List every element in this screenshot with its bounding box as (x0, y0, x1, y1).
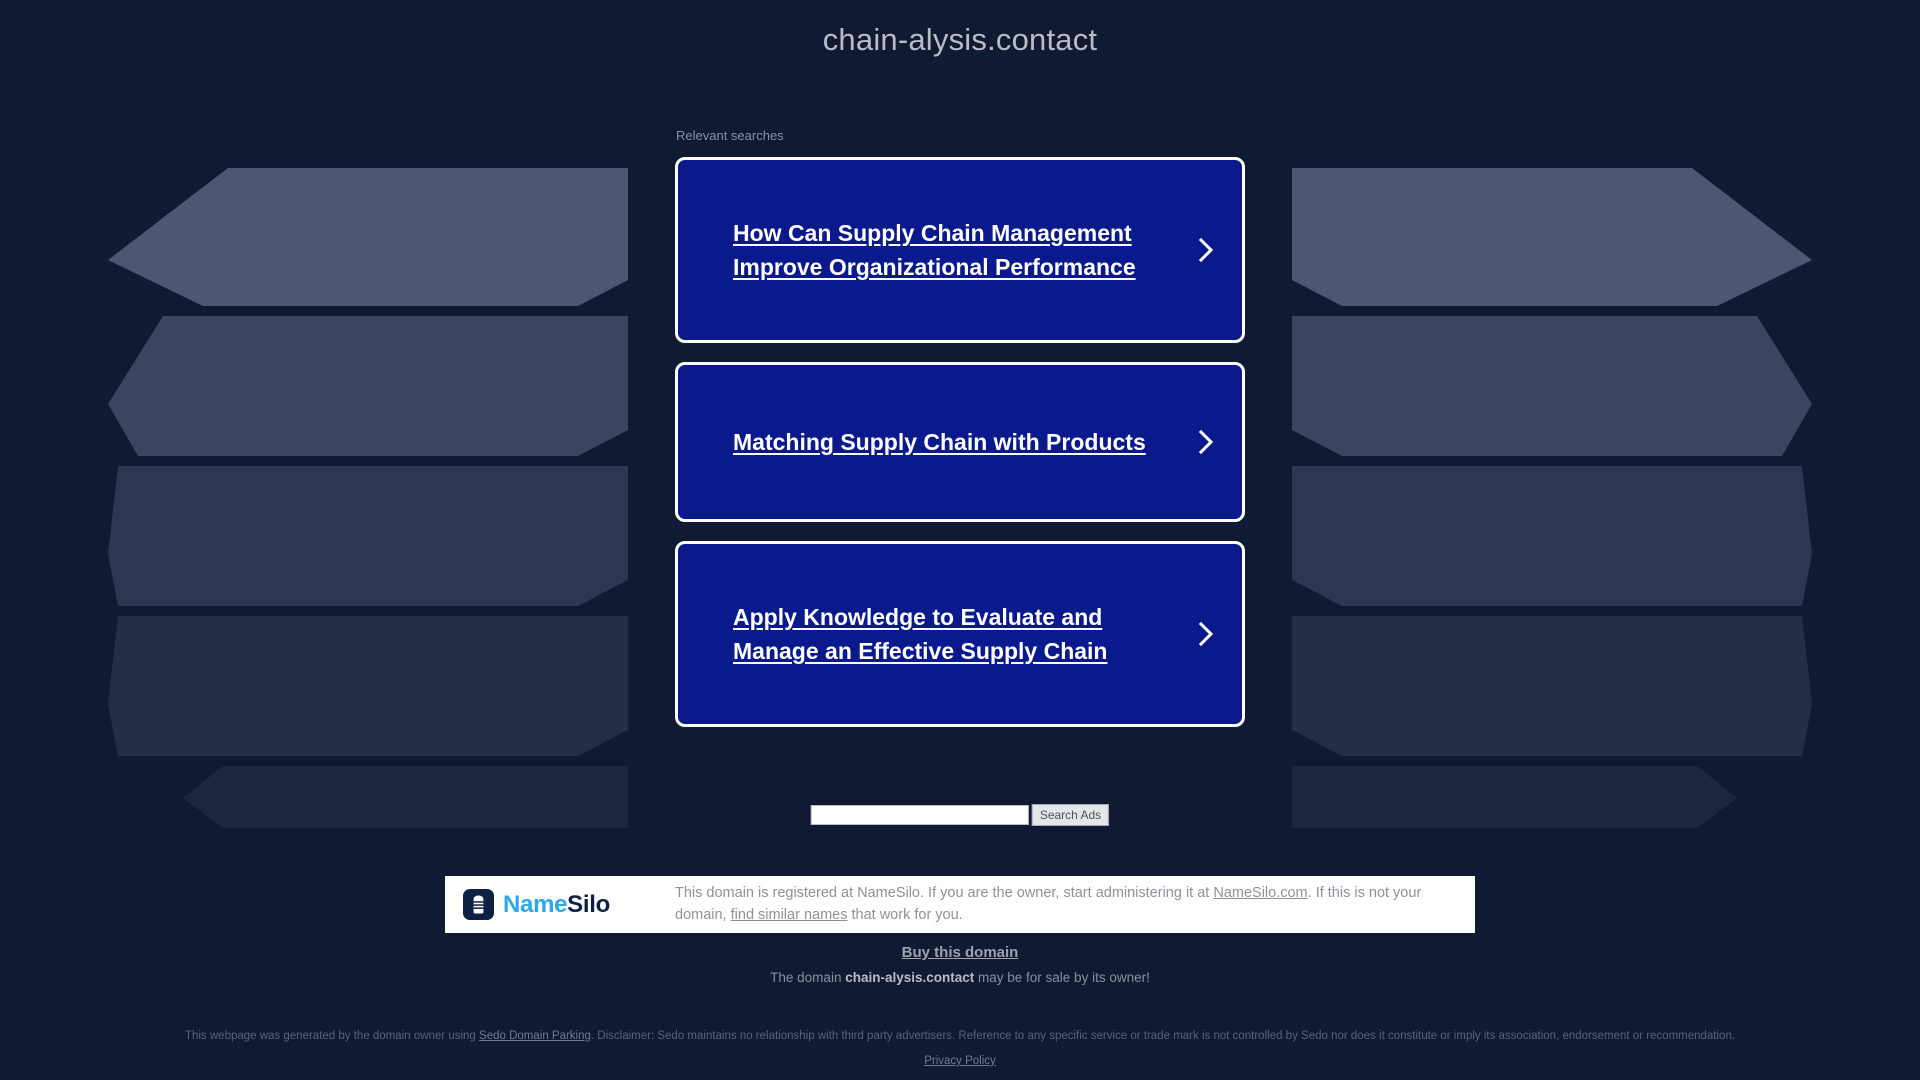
decorative-hexagon-stack-left (108, 168, 628, 828)
decorative-hexagon-stack-right (1292, 168, 1812, 828)
namesilo-message: This domain is registered at NameSilo. I… (675, 883, 1457, 925)
namesilo-text-1: This domain is registered at NameSilo. I… (675, 885, 1213, 901)
namesilo-com-link[interactable]: NameSilo.com (1213, 885, 1307, 901)
namesilo-text-3: that work for you. (847, 907, 962, 923)
ad-block-3[interactable]: Apply Knowledge to Evaluate and Manage a… (675, 541, 1245, 727)
ad-title-3[interactable]: Apply Knowledge to Evaluate and Manage a… (733, 600, 1163, 668)
chevron-right-icon (1198, 237, 1214, 263)
for-sale-text: The domain chain-alysis.contact may be f… (0, 970, 1920, 985)
find-similar-names-link[interactable]: find similar names (731, 907, 848, 923)
ad-title-2[interactable]: Matching Supply Chain with Products (733, 425, 1146, 459)
relevant-searches-label: Relevant searches (675, 128, 1245, 143)
page-title: chain-alysis.contact (0, 22, 1920, 58)
for-sale-suffix: may be for sale by its owner! (974, 970, 1150, 985)
sedo-disclaimer: This webpage was generated by the domain… (0, 1028, 1920, 1045)
namesilo-wordmark: NameSilo (503, 891, 610, 919)
chevron-right-icon (1198, 621, 1214, 647)
buy-this-domain-link[interactable]: Buy this domain (0, 944, 1920, 961)
disclaimer-prefix: This webpage was generated by the domain… (185, 1030, 479, 1042)
ad-title-1[interactable]: How Can Supply Chain Management Improve … (733, 216, 1163, 284)
disclaimer-suffix: . Disclaimer: Sedo maintains no relation… (591, 1030, 1735, 1042)
search-ads-row: Search Ads (811, 804, 1109, 826)
namesilo-word-name: Name (503, 891, 567, 918)
hexagon-stack-svg-right (1292, 168, 1812, 828)
privacy-policy-row: Privacy Policy (0, 1055, 1920, 1067)
hexagon-stack-svg-left (108, 168, 628, 828)
namesilo-silo-icon (463, 889, 494, 920)
chevron-right-icon (1198, 429, 1214, 455)
namesilo-word-silo: Silo (567, 891, 610, 918)
namesilo-banner: NameSilo This domain is registered at Na… (445, 876, 1475, 933)
sedo-domain-parking-link[interactable]: Sedo Domain Parking (479, 1030, 591, 1042)
for-sale-prefix: The domain (770, 970, 845, 985)
for-sale-domain: chain-alysis.contact (845, 970, 974, 985)
parked-domain-page: chain-alysis.contact Relevant searches H… (0, 0, 1920, 1080)
ad-block-1[interactable]: How Can Supply Chain Management Improve … (675, 157, 1245, 343)
ad-block-2[interactable]: Matching Supply Chain with Products (675, 362, 1245, 522)
search-input[interactable] (811, 805, 1029, 825)
search-ads-button[interactable]: Search Ads (1032, 804, 1109, 826)
ads-container: Relevant searches How Can Supply Chain M… (675, 128, 1245, 746)
privacy-policy-link[interactable]: Privacy Policy (924, 1055, 996, 1067)
namesilo-logo: NameSilo (463, 889, 675, 920)
